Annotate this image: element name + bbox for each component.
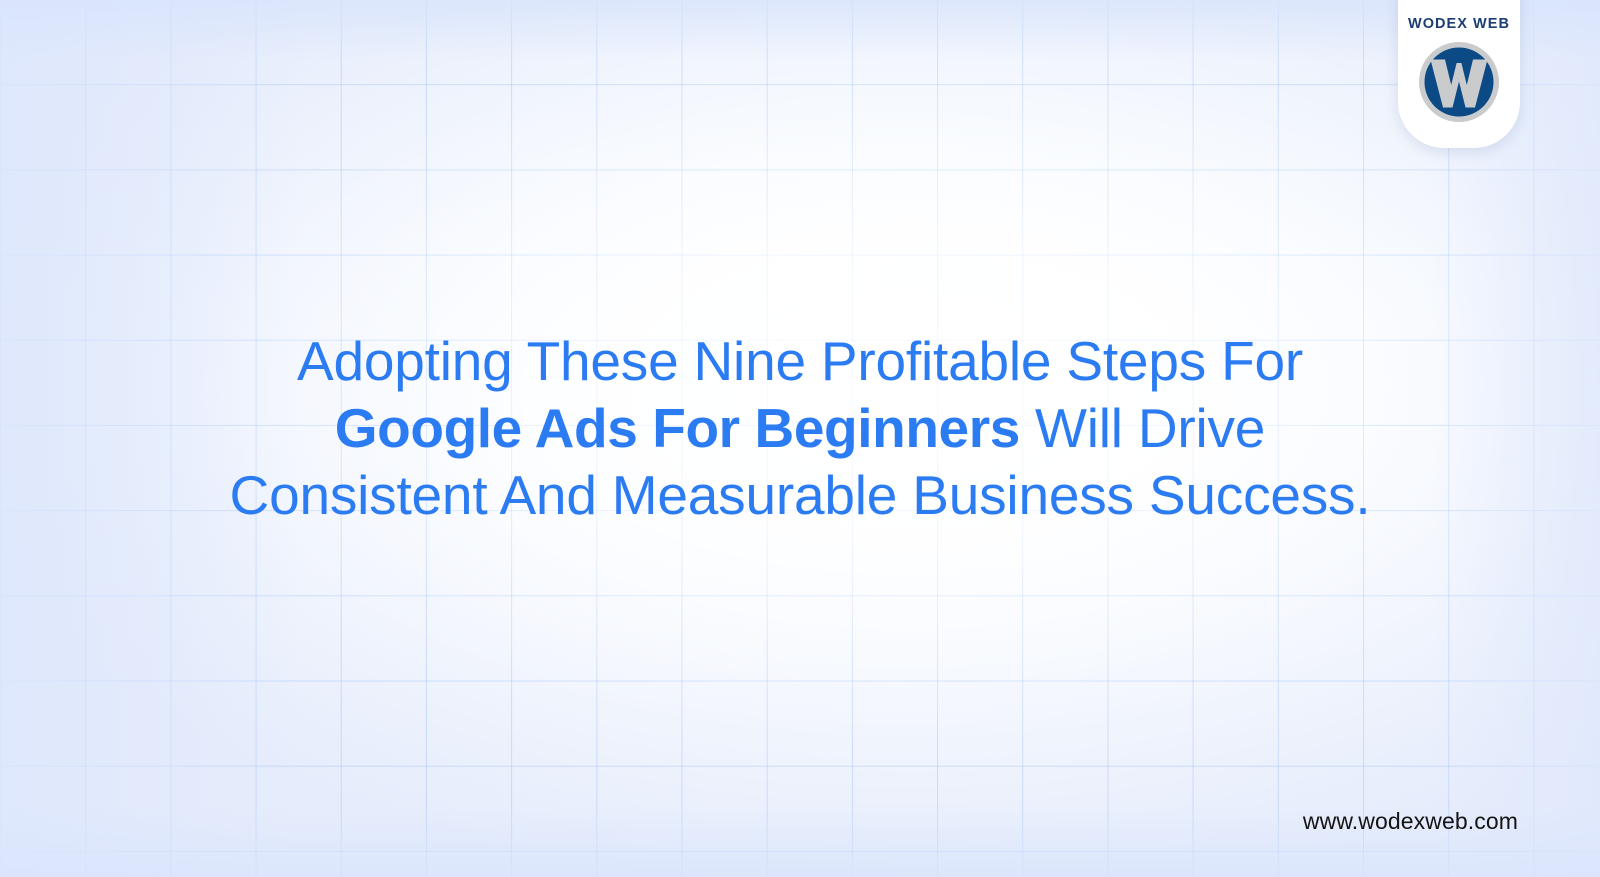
headline-line-2: Google Ads For Beginners Will Drive xyxy=(0,395,1600,462)
logo-wordmark: WODEX WEB xyxy=(1408,16,1510,32)
headline-line-1: Adopting These Nine Profitable Steps For xyxy=(0,328,1600,395)
wodex-web-logo-icon xyxy=(1418,41,1500,123)
headline-emphasis: Google Ads For Beginners xyxy=(335,397,1020,459)
headline: Adopting These Nine Profitable Steps For… xyxy=(0,328,1600,529)
headline-line-3: Consistent And Measurable Business Succe… xyxy=(0,462,1600,529)
site-url: www.wodexweb.com xyxy=(1303,808,1518,835)
background-edge-top xyxy=(0,0,1600,60)
logo-badge: WODEX WEB xyxy=(1398,0,1520,148)
poster-canvas: Adopting These Nine Profitable Steps For… xyxy=(0,0,1600,877)
headline-line-2-tail: Will Drive xyxy=(1020,397,1265,459)
